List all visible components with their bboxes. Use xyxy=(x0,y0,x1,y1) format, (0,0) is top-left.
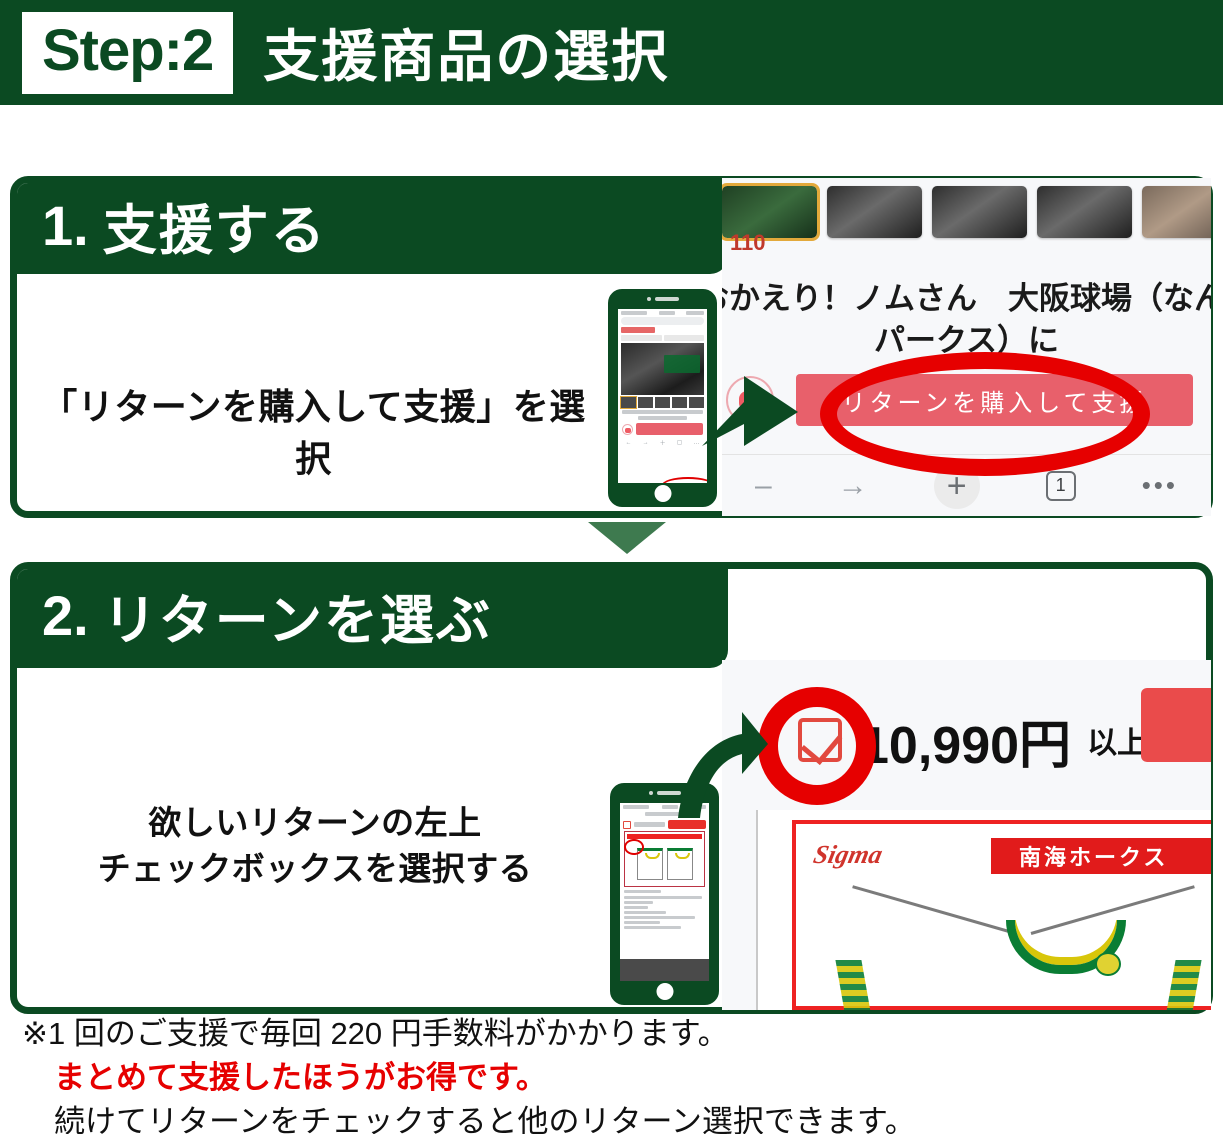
project-title: おかえり！ノムさん 大阪球場（なんば パークス）に xyxy=(722,278,1211,362)
page-tabs[interactable] xyxy=(621,335,704,341)
jersey-illustration xyxy=(836,902,1211,1010)
jersey-back xyxy=(667,848,693,880)
select-return-button[interactable] xyxy=(1141,688,1211,762)
pointer-arrow-curved-icon xyxy=(660,700,770,820)
step-2-instruction: 欲しいリターンの左上 チェックボックスを選択する xyxy=(80,800,550,892)
step-badge: Step:2 xyxy=(22,12,233,94)
back-icon[interactable]: ← xyxy=(626,440,632,446)
forward-arrow-icon[interactable]: → xyxy=(838,469,868,503)
return-price xyxy=(634,822,665,827)
plus-icon[interactable]: ＋ xyxy=(660,438,666,447)
home-button[interactable] xyxy=(654,485,671,502)
page-tab[interactable] xyxy=(621,335,662,341)
status-left-icon xyxy=(621,311,647,315)
phone-screen-step-2 xyxy=(620,803,709,981)
thumbnail[interactable] xyxy=(1142,186,1211,238)
desc-line xyxy=(624,916,695,919)
page-title: 支援商品の選択 xyxy=(263,12,669,93)
support-button[interactable] xyxy=(636,423,703,435)
select-return-button[interactable] xyxy=(668,820,706,829)
pointer-arrow-icon xyxy=(702,368,812,452)
phone-statusbar xyxy=(618,309,707,316)
desc-label xyxy=(624,890,661,893)
jersey-sleeve-right xyxy=(1166,960,1201,1010)
zoom-thumbnail-row[interactable] xyxy=(722,178,1211,238)
home-button[interactable] xyxy=(656,983,673,1000)
speaker-bar-icon xyxy=(655,297,679,301)
status-time xyxy=(659,311,675,315)
project-hero-image xyxy=(621,343,704,395)
status-battery-icon xyxy=(686,311,704,315)
footer-notes: ※1 回のご支援で毎回 220 円手数料がかかります。 まとめて支援したほうがお… xyxy=(22,1012,1202,1134)
step-2-header: 2. リターンを選ぶ xyxy=(16,568,728,668)
page-header: Step:2 支援商品の選択 xyxy=(0,0,1223,105)
step-2-instruction-line-1: 欲しいリターンの左上 xyxy=(80,800,550,846)
cta-row xyxy=(622,423,703,435)
highlight-circle-checkbox xyxy=(624,839,644,855)
sticky-footer-bar[interactable] xyxy=(620,959,709,981)
thumbnail[interactable] xyxy=(1037,186,1132,238)
browser-toolbar[interactable]: ← → ＋ ▢ … xyxy=(618,438,707,447)
step-1-instruction: 「リターンを購入して支援」を選択 xyxy=(26,378,601,482)
phone-mockup-step-1: ← → ＋ ▢ … xyxy=(608,289,717,507)
desc-line xyxy=(624,926,681,929)
tabs-icon[interactable]: ▢ xyxy=(677,439,683,446)
desc-line xyxy=(624,896,702,899)
annotation-ellipse-cta xyxy=(820,352,1150,476)
forward-icon[interactable]: → xyxy=(643,440,649,446)
return-description xyxy=(624,890,705,929)
project-title-line xyxy=(638,416,687,420)
step-1-number: 1. xyxy=(42,193,89,258)
like-count: 110 xyxy=(730,230,766,256)
camera-dot-icon xyxy=(649,791,653,795)
step-1-header: 1. 支援する xyxy=(16,182,728,274)
footer-note-fee: ※1 回のご支援で毎回 220 円手数料がかかります。 xyxy=(22,1012,1202,1056)
footer-note-highlight: まとめて支援したほうがお得です。 xyxy=(54,1056,1202,1100)
step-2-title: リターンを選ぶ xyxy=(103,576,492,655)
camera-dot-icon xyxy=(647,297,651,301)
phone-notch xyxy=(647,297,679,301)
status-left-icon xyxy=(623,805,649,809)
jersey-shoulder-left xyxy=(852,885,1016,935)
desc-line xyxy=(624,921,660,924)
back-icon[interactable]: ‒ xyxy=(755,469,772,503)
return-option-row[interactable] xyxy=(623,820,706,829)
step-1-title: 支援する xyxy=(103,186,327,265)
infographic-page: Step:2 支援商品の選択 1. 支援する 「リターンを購入して支援」を選択 xyxy=(0,0,1223,1134)
thumbnail[interactable] xyxy=(655,397,670,408)
hero-badge xyxy=(664,355,700,373)
project-title-line xyxy=(622,410,703,414)
card-banner xyxy=(627,834,702,839)
menu-ellipsis-icon[interactable]: ••• xyxy=(1142,470,1178,501)
heart-icon[interactable] xyxy=(622,424,633,435)
thumbnail[interactable] xyxy=(638,397,653,408)
footer-note-multi-select: 続けてリターンをチェックすると他のリターン選択できます。 xyxy=(54,1100,1202,1134)
tab-count-badge[interactable]: 1 xyxy=(1046,471,1076,501)
hawk-emblem-icon xyxy=(1095,952,1121,976)
thumbnail[interactable] xyxy=(827,186,922,238)
desc-line xyxy=(624,906,648,909)
project-title-block xyxy=(622,410,703,420)
page-tab[interactable] xyxy=(664,335,705,341)
project-title-line-1: おかえり！ノムさん 大阪球場（なんば xyxy=(722,278,1211,320)
ellipsis-icon[interactable]: … xyxy=(693,440,699,446)
desc-line xyxy=(624,901,653,904)
site-logo xyxy=(621,327,655,333)
jersey-sleeve-left xyxy=(835,960,870,1010)
step-2-number: 2. xyxy=(42,583,89,648)
return-checkbox[interactable] xyxy=(623,821,631,829)
browser-url-bar[interactable] xyxy=(621,317,704,325)
return-image-card: Sigma 南海ホークス xyxy=(756,810,1211,1010)
return-image-frame: Sigma 南海ホークス xyxy=(792,820,1211,1010)
desc-line xyxy=(624,911,666,914)
return-price-suffix: 以上 xyxy=(1087,718,1147,762)
annotation-circle-checkbox xyxy=(758,687,876,805)
return-price: 10,990円 xyxy=(860,703,1071,778)
brand-script-logo: Sigma xyxy=(811,840,885,870)
phone-screen-step-1: ← → ＋ ▢ … xyxy=(618,309,707,483)
thumbnail[interactable] xyxy=(672,397,687,408)
highlight-ellipse xyxy=(662,477,707,483)
thumbnail[interactable] xyxy=(932,186,1027,238)
step-connector-arrow-icon xyxy=(588,522,666,554)
thumbnail[interactable] xyxy=(621,397,636,408)
step-2-instruction-line-2: チェックボックスを選択する xyxy=(80,846,550,892)
thumbnail-row[interactable] xyxy=(621,397,704,408)
team-banner: 南海ホークス xyxy=(991,838,1211,874)
